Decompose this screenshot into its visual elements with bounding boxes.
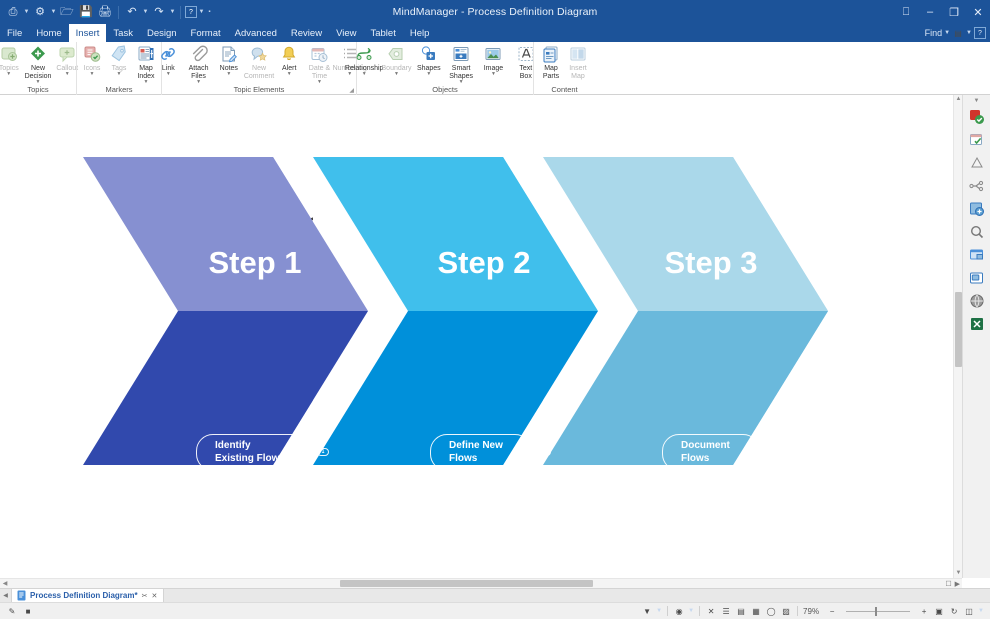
zoom-percent-label: 79% [803, 607, 823, 616]
chevron-down-icon[interactable]: ▼ [491, 72, 496, 77]
ribbon-button-tags[interactable]: Tags ▼ [106, 42, 133, 77]
filter-icon[interactable]: ▼ [641, 605, 653, 617]
topic-text: DocumentFlows [681, 440, 730, 466]
chevron-down-icon[interactable]: ▼ [90, 72, 95, 77]
topic-add-icon [0, 44, 19, 64]
find-label[interactable]: Find [925, 28, 943, 38]
library-pane-icon[interactable] [966, 267, 988, 289]
ribbon-group-name: Topic Elements [162, 85, 356, 94]
markers-pane-icon[interactable] [966, 106, 988, 128]
ribbon-group-markers: Icons ▼ Tags ▼ [76, 42, 161, 95]
ribbon-label: Text Box [519, 65, 532, 81]
topic-badge-3[interactable]: 2 [767, 448, 779, 456]
ribbon-group-topic-elements: Link ▼ Attach Files ▼ [161, 42, 356, 95]
ribbon-group-content: Map Parts Insert Map Content [533, 42, 595, 95]
window-controls: ⎕ – ❐ ✕ [894, 0, 990, 24]
ribbon-button-topics[interactable]: Topics ▼ [0, 42, 23, 77]
topic-text: IdentifyExisting Flows [215, 440, 285, 466]
vertical-scroll-thumb[interactable] [955, 292, 962, 367]
title-bar: ⎙ ▼ ⚙ ▼ 🗁 💾 🖨 ↶ ▼ ↷ ▼ ? ▼ ▪ MindManager … [0, 0, 990, 24]
close-icon[interactable]: ✕ [966, 0, 990, 24]
boundary-icon [386, 44, 406, 64]
ribbon-display-icon[interactable]: ▤ [952, 27, 964, 39]
task-pane-rail: ▼ [962, 95, 990, 578]
task-pane-icon[interactable] [966, 129, 988, 151]
ribbon-button-smart-shapes[interactable]: Smart Shapes ▼ [445, 42, 477, 85]
document-icon [17, 590, 26, 601]
scroll-down-arrow-icon[interactable]: ▼ [955, 570, 962, 577]
ribbon-button-icons[interactable]: Icons ▼ [79, 42, 106, 77]
mindmanager-window: ⎙ ▼ ⚙ ▼ 🗁 💾 🖨 ↶ ▼ ↷ ▼ ? ▼ ▪ MindManager … [0, 0, 990, 619]
new-decision-icon [28, 44, 48, 64]
relationship-icon [354, 44, 374, 64]
ribbon-button-boundary[interactable]: Boundary ▼ [380, 42, 412, 77]
ribbon-button-attach-files[interactable]: Attach Files ▼ [183, 42, 213, 85]
smart-shapes-icon [451, 44, 471, 64]
power-filter-caret-icon[interactable]: ▼ [688, 608, 694, 614]
schedule-view-icon[interactable]: ▦ [750, 605, 762, 617]
chevron-down-icon[interactable]: ▼ [226, 72, 231, 77]
notes-icon [219, 44, 239, 64]
presentation-mode-icon[interactable]: ◯ [765, 605, 777, 617]
view-mode-caret-icon[interactable]: ▼ [978, 608, 984, 614]
canvas-corner-tools: ☐ ▶ [945, 580, 960, 588]
scroll-up-arrow-icon[interactable]: ▲ [955, 96, 962, 103]
tab-design[interactable]: Design [140, 24, 184, 42]
zoom-out-button[interactable]: − [826, 605, 838, 617]
ribbon-button-relationship[interactable]: Relationship ▼ [348, 42, 380, 77]
ribbon-button-image[interactable]: Image ▼ [477, 42, 509, 77]
ribbon-group-objects: Relationship ▼ Boundary ▼ [356, 42, 533, 95]
zoom-in-button[interactable]: + [918, 605, 930, 617]
rail-overflow-icon[interactable]: ▼ [974, 98, 980, 106]
badge-count: 1 [544, 449, 547, 455]
attach-files-icon [189, 44, 209, 64]
ribbon-button-link[interactable]: Link ▼ [153, 42, 183, 77]
ribbon-label: Map Parts [543, 65, 559, 81]
scroll-right-arrow-icon[interactable]: ▶ [955, 580, 960, 588]
topic-badge-1[interactable]: 1 [317, 448, 329, 456]
topic-define-new-flows[interactable]: Define NewFlows [430, 434, 532, 471]
ribbon-button-date-time[interactable]: Date & Time ▼ [304, 42, 334, 85]
icons-icon [82, 44, 102, 64]
ribbon-button-new-decision[interactable]: New Decision ▼ [23, 42, 52, 85]
step-1-label: Step 1 [208, 245, 301, 280]
ribbon: Topics ▼ New Decision ▼ [0, 42, 990, 95]
ribbon-label: Insert Map [569, 65, 587, 81]
ribbon-group-name: Markers [77, 85, 161, 94]
eraser-tool-icon[interactable]: ■ [22, 605, 34, 617]
chevron-down-icon[interactable]: ▼ [144, 80, 149, 85]
browser-pane-icon[interactable] [966, 244, 988, 266]
tags-icon [109, 44, 129, 64]
web-pane-icon[interactable] [966, 290, 988, 312]
ribbon-tab-bar: File Home Insert Task Design Format Adva… [0, 24, 990, 42]
link-icon [158, 44, 178, 64]
pin-tab-icon[interactable]: ✂ [142, 592, 148, 600]
shapes-icon [419, 44, 439, 64]
refresh-icon[interactable]: ↻ [948, 605, 960, 617]
horizontal-scroll-thumb[interactable] [340, 580, 593, 587]
find-caret-icon[interactable]: ▼ [944, 30, 950, 36]
minimize-icon[interactable]: – [918, 0, 942, 24]
fit-page-icon[interactable]: ☐ [945, 580, 951, 588]
map-canvas[interactable]: Process Definition [0, 95, 962, 578]
status-divider-1 [667, 606, 668, 616]
badge-count: 1 [322, 449, 325, 455]
tab-view[interactable]: View [329, 24, 363, 42]
topic-identify-existing-flows[interactable]: IdentifyExisting Flows [196, 434, 310, 471]
zoom-slider[interactable] [846, 611, 910, 612]
ribbon-button-map-parts[interactable]: Map Parts [538, 42, 565, 81]
document-tab[interactable]: Process Definition Diagram* ✂ ✕ [11, 589, 164, 602]
topic-badge-2[interactable]: 1 [539, 448, 551, 456]
gantt-view-icon[interactable]: ▤ [735, 605, 747, 617]
status-divider-3 [797, 606, 798, 616]
chevron-down-icon[interactable]: ▼ [36, 80, 41, 85]
new-comment-icon [249, 44, 269, 64]
ribbon-group-name: Content [534, 85, 595, 94]
callout-icon [57, 44, 77, 64]
view-mode-icon[interactable]: ◫ [963, 605, 975, 617]
ribbon-button-alert[interactable]: Alert ▼ [274, 42, 304, 77]
ribbon-display-caret-icon[interactable]: ▼ [966, 30, 972, 36]
filter-caret-icon[interactable]: ▼ [656, 608, 662, 614]
tab-task[interactable]: Task [106, 24, 140, 42]
chevron-down-icon[interactable]: ▼ [394, 72, 399, 77]
chevron-down-icon[interactable]: ▼ [6, 72, 11, 77]
zoom-slider-handle[interactable] [875, 607, 877, 616]
slide-view-icon[interactable]: ▨ [780, 605, 792, 617]
chevron-shapes-final [83, 157, 828, 465]
restore-down-icon[interactable]: ⎕ [894, 0, 918, 24]
tab-home[interactable]: Home [29, 24, 68, 42]
scroll-left-arrow-icon[interactable]: ◀ [0, 580, 10, 587]
tab-file[interactable]: File [0, 24, 29, 42]
horizontal-scrollbar[interactable]: ◀ [0, 578, 962, 588]
map-index-pane-icon[interactable] [966, 198, 988, 220]
chevron-down-icon[interactable]: ▼ [287, 72, 292, 77]
tab-insert[interactable]: Insert [69, 24, 107, 42]
tab-format[interactable]: Format [184, 24, 228, 42]
tab-help[interactable]: Help [403, 24, 437, 42]
close-tab-icon[interactable]: ✕ [151, 592, 157, 600]
map-parts-icon [541, 44, 561, 64]
ribbon-right-tools: Find ▼ ▤ ▼ ? [925, 24, 990, 42]
tab-advanced[interactable]: Advanced [228, 24, 284, 42]
chevron-down-icon[interactable]: ▼ [317, 80, 322, 85]
chevron-down-icon[interactable]: ▼ [166, 72, 171, 77]
status-divider-2 [699, 606, 700, 616]
tab-scroll-left-icon[interactable]: ◀ [0, 589, 11, 602]
outline-view-icon[interactable]: ☰ [720, 605, 732, 617]
clear-filter-icon[interactable]: ✕ [705, 605, 717, 617]
tab-tablet[interactable]: Tablet [363, 24, 402, 42]
fit-map-icon[interactable]: ▣ [933, 605, 945, 617]
status-left-tools: ✎ ■ [6, 605, 34, 617]
insert-map-icon [568, 44, 588, 64]
document-tab-bar: ◀ Process Definition Diagram* ✂ ✕ [0, 588, 990, 602]
vertical-scrollbar[interactable]: ▲ ▼ [953, 95, 962, 578]
maximize-icon[interactable]: ❐ [942, 0, 966, 24]
ribbon-group-name: Topics [0, 85, 76, 94]
image-icon [483, 44, 503, 64]
search-pane-icon[interactable] [966, 221, 988, 243]
tab-review[interactable]: Review [284, 24, 329, 42]
status-bar: ✎ ■ ▼ ▼ ◉ ▼ ✕ ☰ ▤ ▦ ◯ ▨ 79% − + ▣ ↻ ◫ ▼ [0, 602, 990, 619]
chevron-down-icon[interactable]: ▼ [117, 72, 122, 77]
ribbon-button-insert-map[interactable]: Insert Map [565, 42, 592, 81]
relationship-pane-icon[interactable] [966, 175, 988, 197]
topic-text: Define NewFlows [449, 440, 503, 466]
pen-tool-icon[interactable]: ✎ [6, 605, 18, 617]
ribbon-group-topics: Topics ▼ New Decision ▼ [0, 42, 76, 95]
ribbon-group-name: Objects [357, 85, 533, 94]
document-tab-label: Process Definition Diagram* [30, 591, 138, 600]
dialog-launcher-icon[interactable]: ◢ [349, 87, 354, 94]
chevron-down-icon[interactable]: ▼ [196, 80, 201, 85]
excel-pane-icon[interactable] [966, 313, 988, 335]
chevron-down-icon[interactable]: ▼ [65, 72, 70, 77]
badge-count: 2 [772, 449, 775, 455]
ribbon-button-shapes[interactable]: Shapes ▼ [413, 42, 445, 77]
date-time-icon [309, 44, 329, 64]
topic-document-flows[interactable]: DocumentFlows [662, 434, 760, 471]
ribbon-button-new-comment[interactable]: New Comment [244, 42, 274, 81]
ribbon-label: New Comment [244, 65, 274, 81]
window-title: MindManager - Process Definition Diagram [0, 6, 990, 18]
chevron-down-icon[interactable]: ▼ [459, 80, 464, 85]
step-2-label: Step 2 [437, 245, 530, 280]
process-chevron-diagram: Step 1 Step 2 Step 3 [0, 95, 962, 578]
topic-pane-icon[interactable] [966, 152, 988, 174]
chevron-down-icon[interactable]: ▼ [426, 72, 431, 77]
power-filter-icon[interactable]: ◉ [673, 605, 685, 617]
step-3-label: Step 3 [664, 245, 757, 280]
ribbon-button-notes[interactable]: Notes ▼ [214, 42, 244, 77]
ribbon-help-icon[interactable]: ? [974, 27, 986, 39]
chevron-down-icon[interactable]: ▼ [362, 72, 367, 77]
alert-icon [279, 44, 299, 64]
